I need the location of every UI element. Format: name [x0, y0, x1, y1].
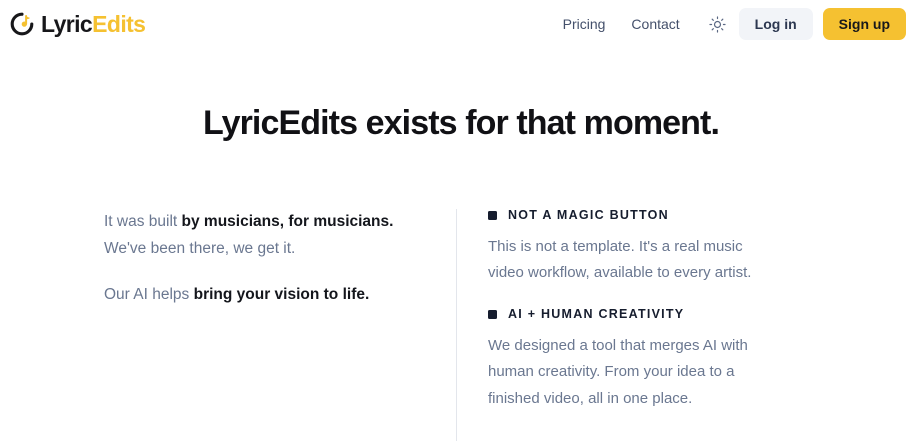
- left-column: It was built by musicians, for musicians…: [104, 209, 456, 441]
- nav-link-contact[interactable]: Contact: [618, 10, 692, 38]
- site-header: LyricEdits Pricing Contact Log in: [0, 0, 922, 48]
- brand-logo-link[interactable]: LyricEdits: [10, 12, 145, 36]
- hero-section: LyricEdits exists for that moment.: [0, 104, 922, 143]
- theme-toggle-button[interactable]: [703, 9, 733, 39]
- content-columns: It was built by musicians, for musicians…: [0, 209, 922, 441]
- feature-header: AI + HUMAN CREATIVITY: [488, 308, 892, 321]
- lead-1-regular-b: We've been there, we get it.: [104, 240, 295, 257]
- lead-paragraph-2: Our AI helps bring your vision to life.: [104, 282, 420, 309]
- lead-1-regular-a: It was built: [104, 213, 182, 230]
- nav-link-pricing[interactable]: Pricing: [550, 10, 619, 38]
- brand-wordmark: LyricEdits: [41, 13, 145, 36]
- brand-name-accent: Edits: [92, 11, 145, 37]
- music-note-circle-logo-icon: [10, 12, 34, 36]
- feature-header: NOT A MAGIC BUTTON: [488, 209, 892, 222]
- square-bullet-icon: [488, 211, 497, 220]
- lead-2-emphasis: bring your vision to life.: [194, 286, 370, 303]
- feature-body: We designed a tool that merges AI with h…: [488, 333, 778, 412]
- sun-icon: [709, 16, 726, 33]
- square-bullet-icon: [488, 310, 497, 319]
- lead-paragraph-1: It was built by musicians, for musicians…: [104, 209, 420, 262]
- signup-button[interactable]: Sign up: [823, 8, 906, 40]
- feature-block: AI + HUMAN CREATIVITY We designed a tool…: [488, 308, 892, 412]
- right-column: NOT A MAGIC BUTTON This is not a templat…: [457, 209, 892, 441]
- lead-2-regular-a: Our AI helps: [104, 286, 194, 303]
- page-title: LyricEdits exists for that moment.: [0, 104, 922, 143]
- feature-block: NOT A MAGIC BUTTON This is not a templat…: [488, 209, 892, 286]
- feature-title: NOT A MAGIC BUTTON: [508, 209, 669, 222]
- feature-title: AI + HUMAN CREATIVITY: [508, 308, 684, 321]
- feature-body: This is not a template. It's a real musi…: [488, 234, 778, 287]
- lead-1-emphasis: by musicians, for musicians.: [182, 213, 394, 230]
- primary-navigation: Pricing Contact Log in Sign up: [550, 8, 906, 40]
- brand-name-primary: Lyric: [41, 11, 92, 37]
- login-button[interactable]: Log in: [739, 8, 813, 40]
